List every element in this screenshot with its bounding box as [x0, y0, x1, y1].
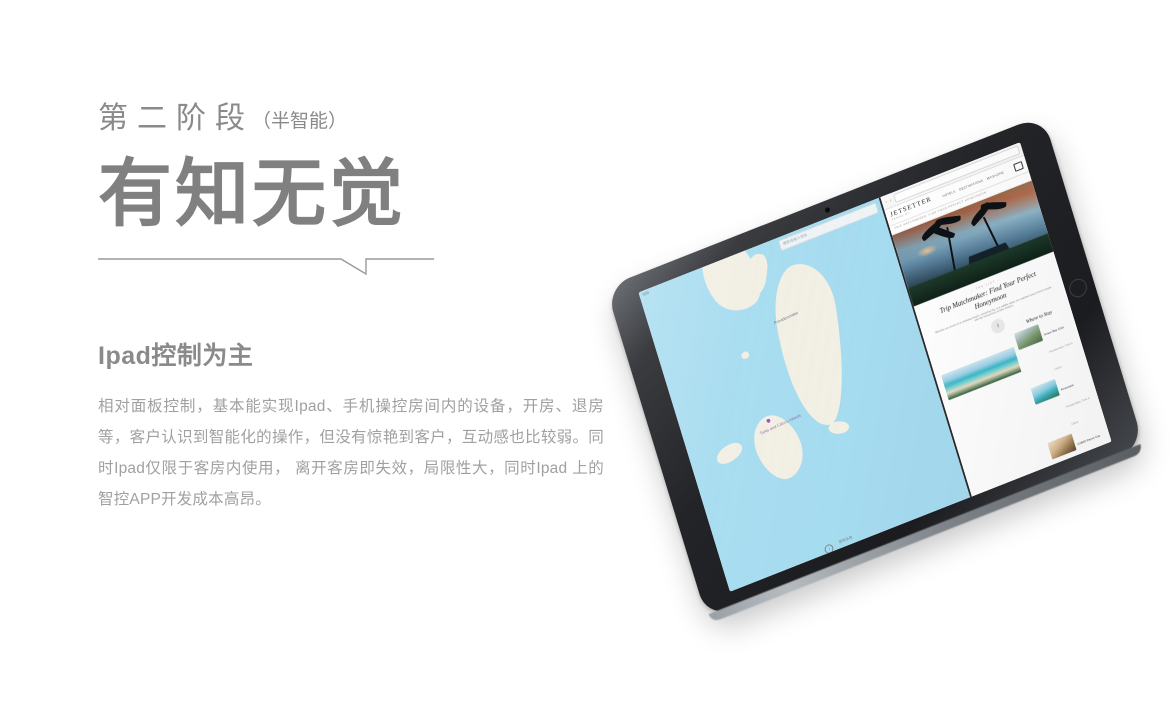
map-islet	[829, 421, 849, 435]
nav-item-destinations[interactable]: DESTINATIONS	[959, 178, 984, 191]
map-landmass	[768, 257, 854, 434]
stage-eyebrow: 第二阶段（半智能）	[98, 104, 618, 144]
slide-root: 第二阶段（半智能） 有知无觉 Ipad控制为主 相对面板控制，基本能实现Ipad…	[0, 0, 1170, 702]
ipad-tablet: 地图 搜索或输入地址 Providenciales Turks and Caic…	[606, 115, 1145, 619]
palm-frond-icon	[935, 215, 961, 225]
section-subheading: Ipad控制为主	[98, 341, 618, 371]
article-number-badge: 1	[990, 317, 1007, 336]
map-landmass	[713, 438, 745, 467]
hotel-name: Grace Bay Club	[1044, 326, 1065, 338]
hotel-location: Providenciales, Turks & Caicos	[1066, 397, 1090, 426]
divider-with-notch	[98, 253, 434, 279]
map-islet	[740, 350, 749, 360]
hotel-name: Amanyara	[1060, 383, 1074, 392]
where-to-stay-section: Where to Stay Grace Bay Club Providencia…	[1007, 301, 1111, 485]
map-landmass	[745, 406, 813, 487]
device-stage: 地图 搜索或输入地址 Providenciales Turks and Caic…	[612, 150, 1170, 620]
hotel-location: Providenciales, Turks & Caicos	[1049, 342, 1073, 371]
maps-terms-label: 使用条款	[838, 535, 853, 545]
stage-eyebrow-main: 第二阶段	[98, 104, 254, 134]
maps-search-placeholder: 搜索或输入地址	[782, 232, 808, 248]
text-column: 第二阶段（半智能） 有知无觉 Ipad控制为主 相对面板控制，基本能实现Ipad…	[98, 104, 618, 531]
hotel-location: Parrot Cay, Turks & Caicos	[1083, 450, 1111, 463]
stage-eyebrow-sub: （半智能）	[252, 112, 347, 131]
palm-frond-icon	[929, 224, 955, 240]
nav-item-magazine[interactable]: MAGAZINE	[986, 170, 1004, 181]
ipad-screen: 地图 搜索或输入地址 Providenciales Turks and Caic…	[639, 142, 1112, 592]
hotel-name: COMO Parrot Cay	[1077, 434, 1101, 447]
hotel-meta: Grace Bay Club Providenciales, Turks & C…	[1041, 313, 1084, 376]
page-title: 有知无觉	[98, 156, 618, 231]
sunset-glow	[916, 242, 939, 260]
palm-frond-icon	[981, 202, 1007, 210]
info-icon[interactable]: i	[824, 543, 835, 555]
front-camera-icon	[824, 207, 830, 214]
nav-item-hotels[interactable]: HOTELS	[942, 189, 956, 198]
section-body-text: 相对面板控制，基本能实现Ipad、手机操控房间内的设备，开房、退房等，客户认识到…	[98, 391, 604, 515]
menu-icon[interactable]	[1013, 161, 1024, 172]
back-arrow-icon[interactable]: ‹	[885, 199, 888, 205]
hotel-meta: Amanyara Providenciales, Turks & Caicos	[1057, 368, 1100, 431]
maps-title-label: 地图	[642, 291, 650, 298]
forward-arrow-icon[interactable]: ›	[889, 197, 892, 203]
home-button[interactable]	[1067, 276, 1089, 300]
hotel-meta: COMO Parrot Cay Parrot Cay, Turks & Caic…	[1074, 422, 1111, 467]
